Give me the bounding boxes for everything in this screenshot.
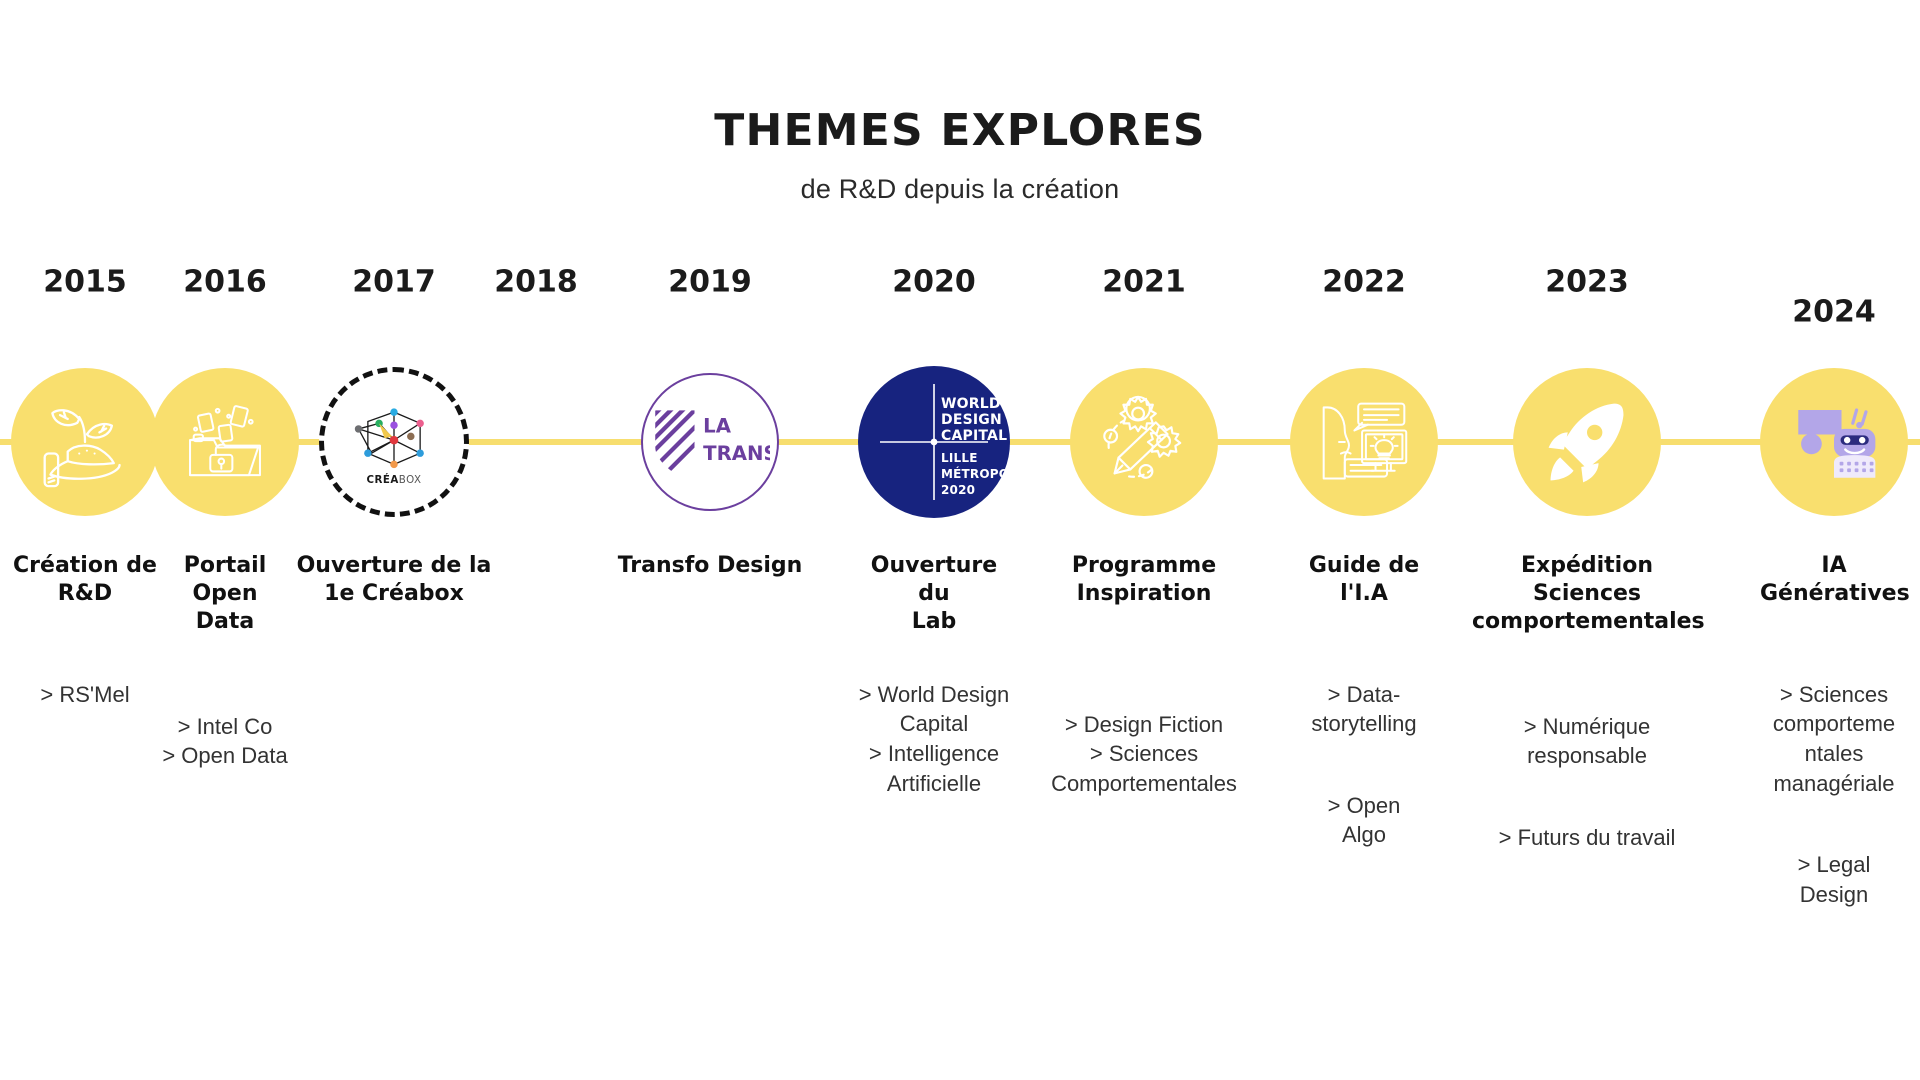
timeline-node-2017[interactable]: CRÉABOX — [319, 367, 469, 517]
year-label-2015: 2015 — [12, 265, 158, 300]
la-transfo-logo-icon: LA TRANSFO — [650, 403, 770, 481]
folder-unlock-icon — [179, 396, 271, 488]
entry-bullets-2020: > World Design Capital > Intelligence Ar… — [828, 650, 1040, 828]
rocket-icon — [1539, 394, 1635, 490]
timeline-node-2021[interactable] — [1070, 368, 1218, 516]
timeline-node-2023[interactable] — [1513, 368, 1661, 516]
wdc-line-1: WORLD — [941, 396, 1001, 412]
wdc-line-5: MÉTROPOLE — [941, 466, 1010, 481]
pencil-gears-icon — [1095, 393, 1193, 491]
year-label-2021: 2021 — [1070, 265, 1218, 300]
timeline-track: 2015 — [0, 0, 1920, 1080]
timeline-node-2016[interactable] — [151, 368, 299, 516]
bullet-item: > Data- storytelling — [1290, 680, 1438, 739]
bullet-item: > World Design Capital > Intelligence Ar… — [828, 680, 1040, 799]
year-label-2024: 2024 — [1760, 295, 1908, 330]
entry-bullets-2023: > Numérique responsable > Futurs du trav… — [1468, 682, 1706, 882]
timeline-node-2024[interactable] — [1760, 368, 1908, 516]
person-screen-idea-icon — [1316, 394, 1412, 490]
bullet-item: > Sciences comporteme ntales managériale — [1734, 680, 1920, 799]
entry-label-2020: Ouverture du Lab — [858, 552, 1010, 636]
entry-bullets-2015: > RS'Mel — [12, 650, 158, 739]
year-label-2019: 2019 — [640, 265, 780, 300]
year-label-2020: 2020 — [858, 265, 1010, 300]
entry-label-2017: Ouverture de la 1e Créabox — [282, 552, 506, 608]
wdc-line-6: 2020 — [941, 483, 975, 497]
creabox-logo-icon: CRÉABOX — [338, 386, 450, 498]
year-label-2017: 2017 — [312, 265, 476, 300]
bullet-item: > Numérique responsable — [1468, 712, 1706, 771]
timeline-node-2022[interactable] — [1290, 368, 1438, 516]
entry-label-2022: Guide de l'I.A — [1290, 552, 1438, 608]
bullet-item: > Open Algo — [1290, 791, 1438, 850]
timeline-node-2020[interactable]: WORLD DESIGN CAPITAL LILLE MÉTROPOLE 202… — [858, 366, 1010, 518]
year-label-2016: 2016 — [152, 265, 298, 300]
wdc-line-4: LILLE — [941, 451, 978, 465]
entry-label-2023: Expédition Sciences comportementales — [1472, 552, 1702, 636]
bullet-item: > Design Fiction > Sciences Comportement… — [1018, 710, 1270, 799]
entry-bullets-2016: > Intel Co > Open Data — [152, 682, 298, 801]
world-design-capital-logo-icon: WORLD DESIGN CAPITAL LILLE MÉTROPOLE 202… — [858, 366, 1010, 518]
entry-label-2021: Programme Inspiration — [1070, 552, 1218, 608]
entry-bullets-2022: > Data- storytelling > Open Algo — [1290, 650, 1438, 880]
chatbot-robot-icon — [1787, 395, 1881, 489]
timeline-infographic: THEMES EXPLORES de R&D depuis la créatio… — [0, 0, 1920, 1080]
entry-bullets-2024: > Sciences comporteme ntales managériale… — [1734, 650, 1920, 939]
entry-label-2019: Transfo Design — [610, 552, 810, 580]
bullet-item: > Futurs du travail — [1468, 823, 1706, 853]
timeline-node-la-transfo[interactable]: LA TRANSFO — [641, 373, 779, 511]
year-label-2022: 2022 — [1290, 265, 1438, 300]
entry-label-2024: IA Génératives — [1760, 552, 1908, 608]
hand-plant-icon — [37, 394, 133, 490]
bullet-item: > Legal Design — [1734, 850, 1920, 909]
year-label-2023: 2023 — [1512, 265, 1662, 300]
entry-label-2015: Création de R&D — [12, 552, 158, 608]
svg-text:CRÉABOX: CRÉABOX — [367, 473, 422, 486]
wdc-line-2: DESIGN — [941, 412, 1002, 428]
entry-label-2016: Portail Open Data — [152, 552, 298, 636]
timeline-node-2015[interactable] — [11, 368, 159, 516]
bullet-item: > Intel Co > Open Data — [152, 712, 298, 771]
bullet-item: > RS'Mel — [12, 680, 158, 710]
year-label-2018: 2018 — [490, 265, 582, 300]
wdc-line-3: CAPITAL — [941, 428, 1007, 444]
entry-bullets-2021: > Design Fiction > Sciences Comportement… — [1018, 680, 1270, 828]
svg-text:TRANSFO: TRANSFO — [703, 442, 770, 465]
svg-text:LA: LA — [703, 415, 732, 438]
